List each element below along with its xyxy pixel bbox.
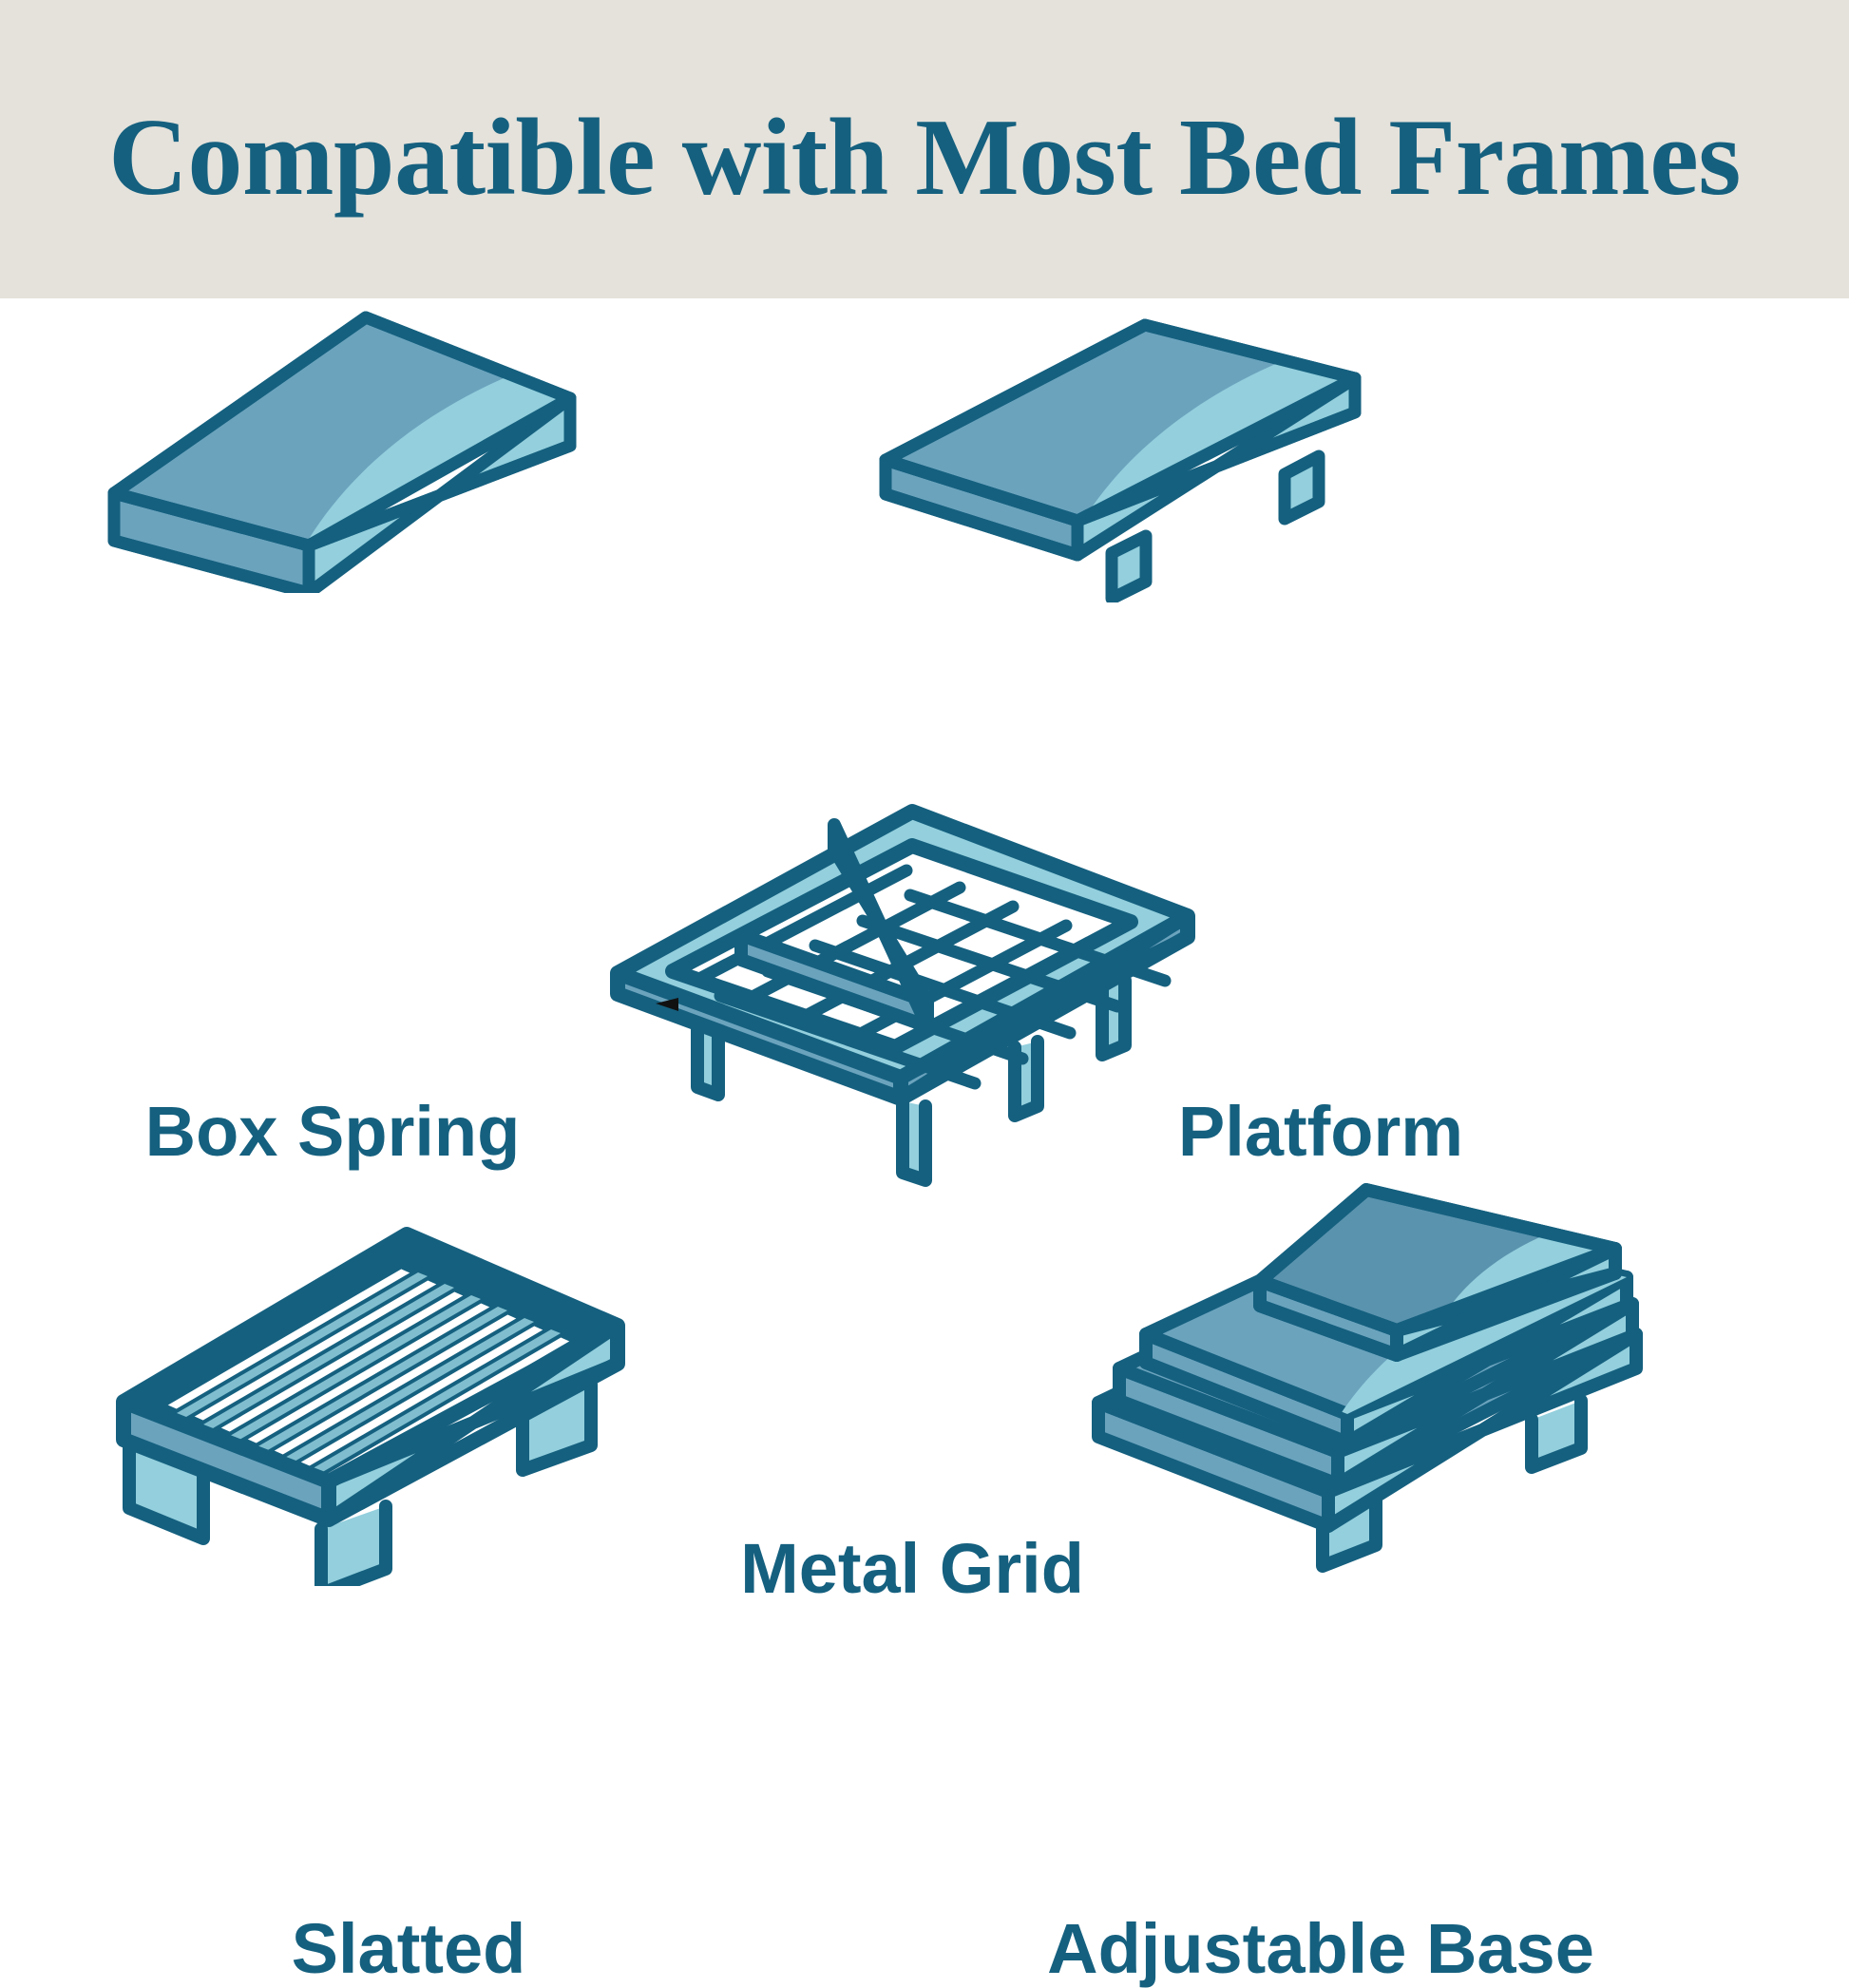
label-platform: Platform — [960, 1097, 1682, 1167]
label-metal-grid: Metal Grid — [580, 1534, 1245, 1604]
label-box-spring: Box Spring — [0, 1097, 665, 1167]
label-adjustable-base: Adjustable Base — [960, 1914, 1682, 1984]
platform-icon — [874, 317, 1368, 602]
platform-figure — [874, 317, 1368, 602]
adjustable-base-figure — [1083, 1182, 1672, 1581]
slatted-figure — [105, 1206, 637, 1586]
label-slatted: Slatted — [76, 1914, 741, 1984]
slatted-icon — [105, 1206, 637, 1586]
header-band: Compatible with Most Bed Frames — [0, 0, 1849, 298]
page-title: Compatible with Most Bed Frames — [108, 86, 1741, 213]
box-spring-icon — [105, 308, 580, 593]
illustration-area: Box Spring Platform Metal Grid Slatted A… — [0, 298, 1849, 1849]
adjustable-base-icon — [1083, 1182, 1672, 1581]
box-spring-figure — [105, 308, 580, 593]
